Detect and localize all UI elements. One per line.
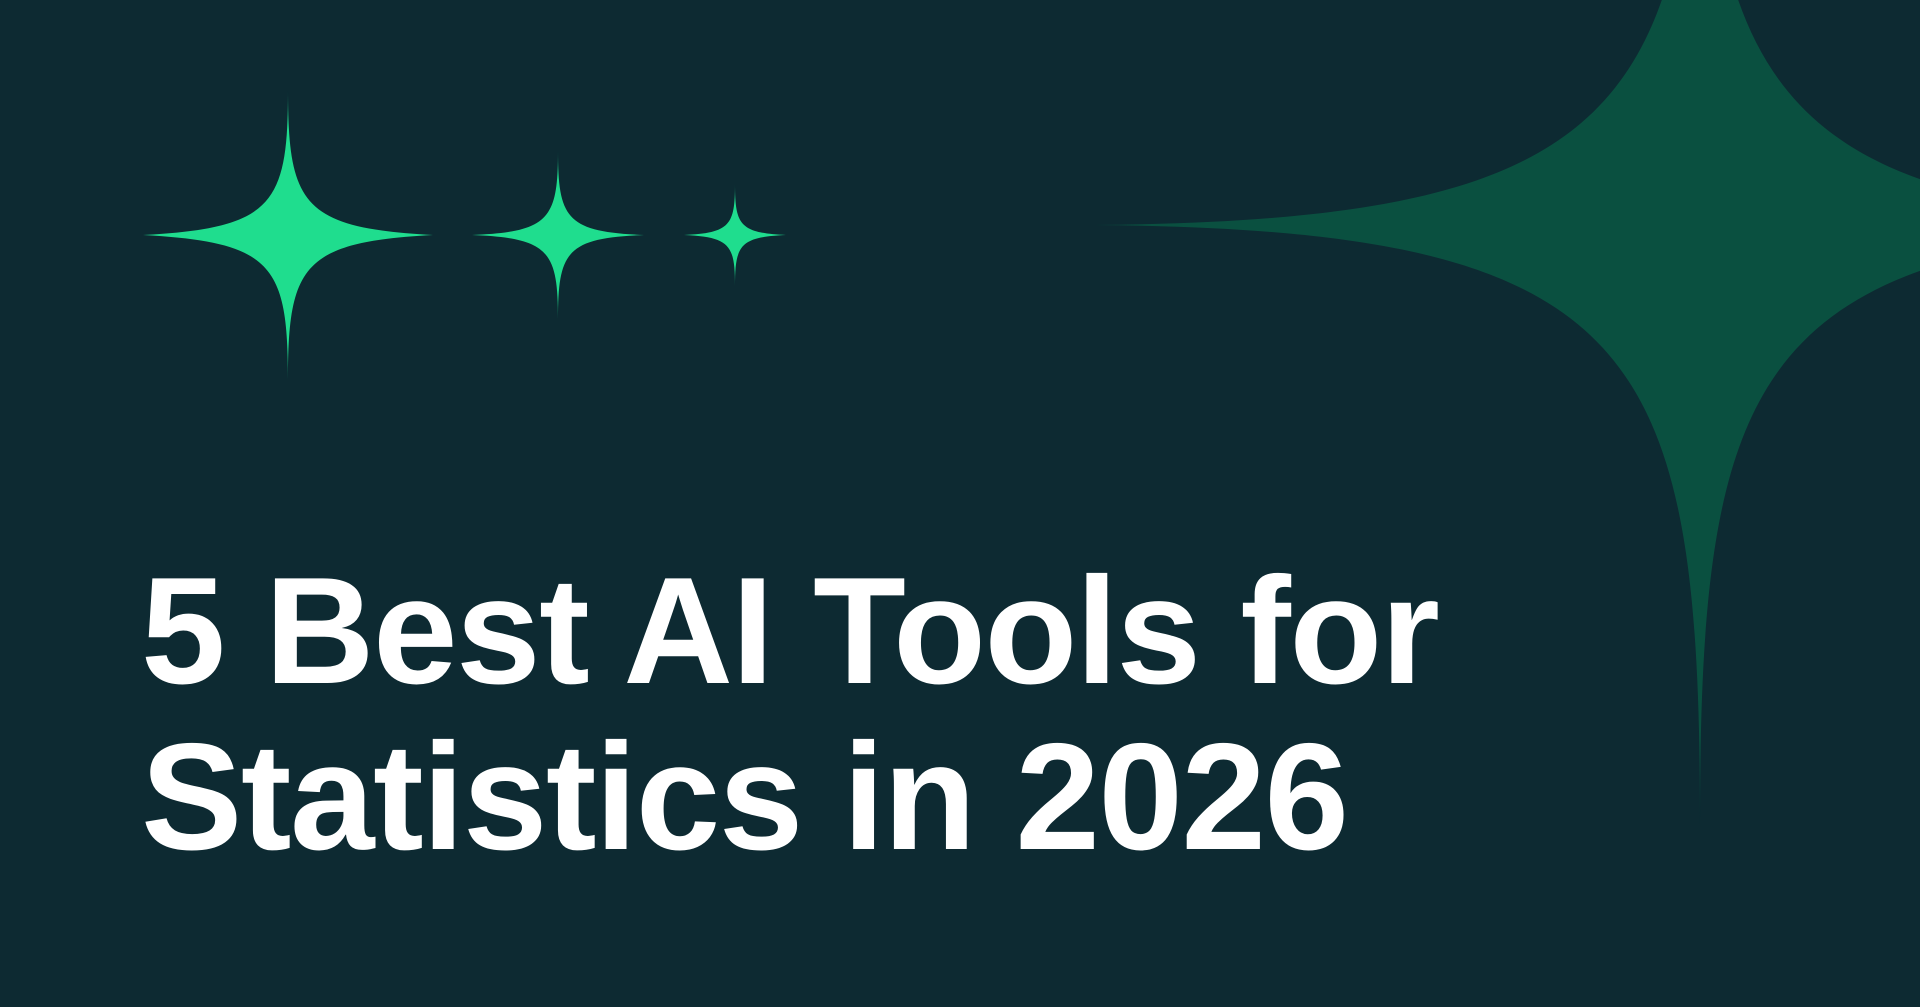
page-title-line-2: Statistics in 2026 — [141, 714, 1701, 880]
hero-banner: 5 Best AI Tools for Statistics in 2026 — [0, 0, 1920, 1007]
page-title: 5 Best AI Tools for Statistics in 2026 — [141, 548, 1701, 880]
page-title-line-1: 5 Best AI Tools for — [141, 548, 1701, 714]
